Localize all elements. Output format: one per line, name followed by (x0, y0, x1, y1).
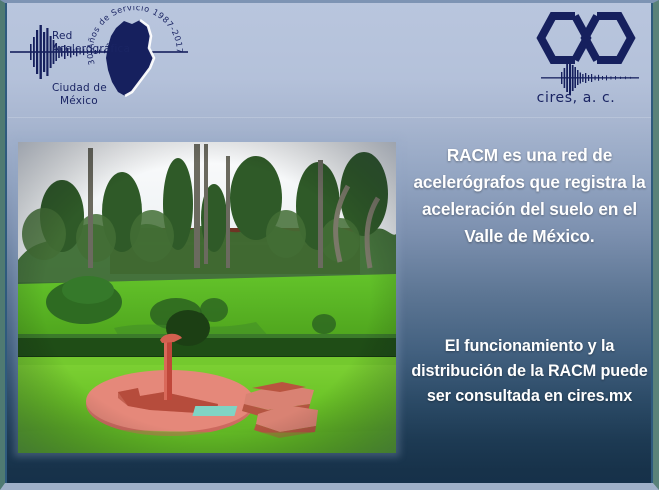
mexico-city-map-icon (106, 20, 154, 96)
cires-logo-label: cires, a. c. (521, 90, 631, 106)
racm-text-line-3: Ciudad de (52, 82, 107, 95)
header-divider (8, 117, 651, 118)
header-band: 30 Años de Servicio 1987-2017 Red Aceler… (0, 0, 659, 118)
racm-logo-graphic: 30 Años de Servicio 1987-2017 (8, 6, 188, 111)
slide-canvas: 30 Años de Servicio 1987-2017 Red Aceler… (0, 0, 659, 490)
cires-logo: cires, a. c. (535, 8, 645, 108)
racm-text-line-4: México (60, 95, 98, 108)
racm-text-line-1: Red (52, 30, 73, 43)
racm-text-line-2: Acelerográfica (52, 43, 130, 56)
accelerograph-station-garden-photo (18, 142, 396, 453)
photo-graphic (18, 142, 396, 453)
paragraph-intro: RACM es una red de acelerógrafos que reg… (408, 142, 651, 250)
cires-monogram-icon (541, 16, 631, 60)
paragraph-website: El funcionamiento y la distribución de l… (408, 334, 651, 409)
racm-logo: 30 Años de Servicio 1987-2017 Red Aceler… (8, 6, 188, 111)
